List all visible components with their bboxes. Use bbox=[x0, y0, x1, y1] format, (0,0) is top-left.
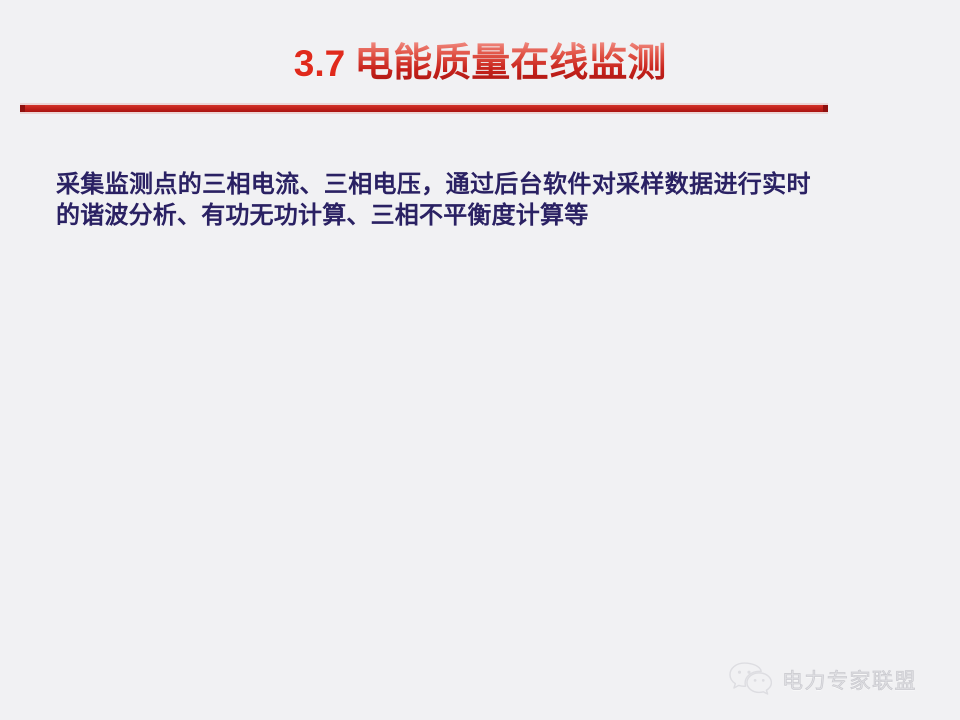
divider-bar bbox=[20, 105, 828, 112]
watermark-label: 电力专家联盟 bbox=[782, 665, 917, 695]
body-line-2: 的谐波分析、有功无功计算、三相不平衡度计算等 bbox=[56, 201, 916, 232]
divider-cap-right bbox=[823, 105, 828, 112]
body-line-1: 采集监测点的三相电流、三相电压，通过后台软件对采样数据进行实时 bbox=[56, 170, 916, 201]
title-divider bbox=[20, 103, 828, 114]
page-title: 3.7电能质量在线监测 bbox=[0, 44, 960, 83]
title-row: 3.7电能质量在线监测 bbox=[294, 44, 666, 83]
slide-canvas: 3.7电能质量在线监测 采集监测点的三相电流、三相电压，通过后台软件对采样数据进… bbox=[0, 0, 960, 720]
wechat-icon bbox=[728, 661, 772, 699]
divider-cap-left bbox=[20, 105, 25, 112]
section-number: 3.7 bbox=[294, 43, 345, 84]
section-heading: 电能质量在线监测 bbox=[354, 42, 666, 85]
body-paragraph: 采集监测点的三相电流、三相电压，通过后台软件对采样数据进行实时 的谐波分析、有功… bbox=[56, 170, 916, 232]
watermark: 电力专家联盟 bbox=[728, 658, 940, 702]
